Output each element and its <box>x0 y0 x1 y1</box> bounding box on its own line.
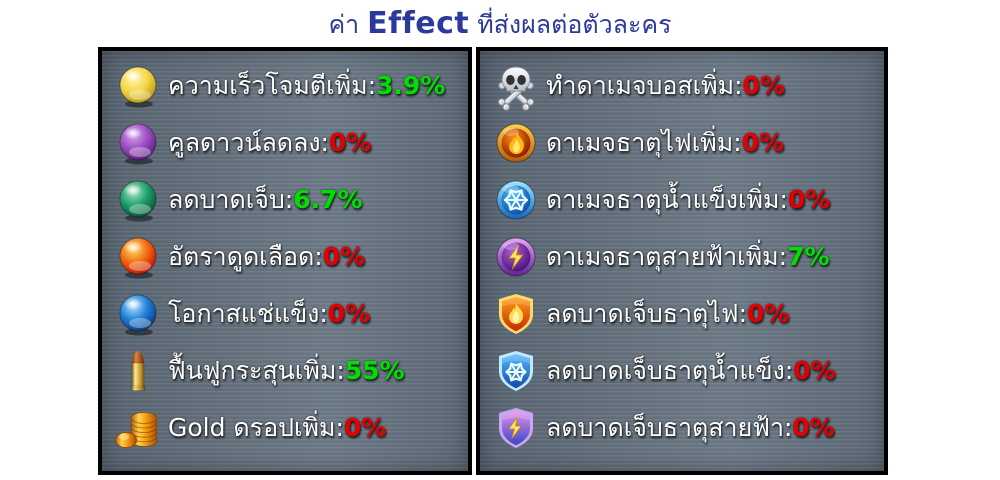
stat-label: ลดบาดเจ็บธาตุไฟ: <box>546 299 747 328</box>
stat-label: ทำดาเมจบอสเพิ่ม: <box>546 71 743 100</box>
stat-label: ฟื้นฟูกระสุนเพิ่ม: <box>168 356 345 385</box>
fire-medallion-icon <box>490 119 542 167</box>
stat-row: Gold ดรอปเพิ่ม:0% <box>102 399 468 456</box>
stat-row: ลดบาดเจ็บธาตุน้ำแข็ง:0% <box>480 342 884 399</box>
stat-row: ดาเมจธาตุไฟเพิ่ม:0% <box>480 114 884 171</box>
page-title-effect: Effect <box>367 6 469 41</box>
bullet-icon <box>112 347 164 395</box>
stat-row: ฟื้นฟูกระสุนเพิ่ม:55% <box>102 342 468 399</box>
orb-purple-icon <box>112 119 164 167</box>
stat-label: ลดบาดเจ็บ: <box>168 185 293 214</box>
stat-text: Gold ดรอปเพิ่ม:0% <box>164 408 386 448</box>
orb-orange-icon <box>112 233 164 281</box>
stat-value: 0% <box>792 413 834 442</box>
stat-label: ลดบาดเจ็บธาตุน้ำแข็ง: <box>546 356 793 385</box>
ice-medallion-icon <box>490 176 542 224</box>
stat-text: คูลดาวน์ลดลง:0% <box>164 123 371 163</box>
stat-text: ลดบาดเจ็บธาตุน้ำแข็ง:0% <box>542 351 836 391</box>
stat-label: ลดบาดเจ็บธาตุสายฟ้า: <box>546 413 792 442</box>
stat-value: 3.9% <box>376 71 445 100</box>
stat-value: 7% <box>787 242 829 271</box>
stat-label: ดาเมจธาตุน้ำแข็งเพิ่ม: <box>546 185 788 214</box>
page-title-prefix: ค่า <box>328 10 367 39</box>
stat-value: 0% <box>344 413 386 442</box>
stat-label: โอกาสแช่แข็ง: <box>168 299 328 328</box>
stat-value: 0% <box>329 128 371 157</box>
stat-row: ลดบาดเจ็บธาตุสายฟ้า:0% <box>480 399 884 456</box>
right-panel-rows: ทำดาเมจบอสเพิ่ม:0%ดาเมจธาตุไฟเพิ่ม:0%ดาเ… <box>480 51 884 456</box>
lightning-shield-icon <box>490 404 542 452</box>
stat-text: อัตราดูดเลือด:0% <box>164 237 365 277</box>
stat-text: ลดบาดเจ็บธาตุสายฟ้า:0% <box>542 408 835 448</box>
stat-label: คูลดาวน์ลดลง: <box>168 128 329 157</box>
stat-text: ความเร็วโจมตีเพิ่ม:3.9% <box>164 66 445 106</box>
stat-value: 0% <box>742 128 784 157</box>
ice-shield-icon <box>490 347 542 395</box>
stat-value: 0% <box>788 185 830 214</box>
stat-row: อัตราดูดเลือด:0% <box>102 228 468 285</box>
lightning-medallion-icon <box>490 233 542 281</box>
stat-label: ดาเมจธาตุไฟเพิ่ม: <box>546 128 742 157</box>
orb-yellow-icon <box>112 62 164 110</box>
stat-label: Gold ดรอปเพิ่ม: <box>168 413 344 442</box>
stat-row: คูลดาวน์ลดลง:0% <box>102 114 468 171</box>
stat-value: 0% <box>747 299 789 328</box>
stat-value: 0% <box>743 71 785 100</box>
gold-coins-icon <box>112 404 164 452</box>
stat-row: ทำดาเมจบอสเพิ่ม:0% <box>480 57 884 114</box>
stat-text: ทำดาเมจบอสเพิ่ม:0% <box>542 66 785 106</box>
page-title-suffix: ที่ส่งผลต่อตัวละคร <box>469 10 671 39</box>
stat-label: ดาเมจธาตุสายฟ้าเพิ่ม: <box>546 242 787 271</box>
stat-row: ลดบาดเจ็บธาตุไฟ:0% <box>480 285 884 342</box>
stat-row: ลดบาดเจ็บ:6.7% <box>102 171 468 228</box>
right-panel: ทำดาเมจบอสเพิ่ม:0%ดาเมจธาตุไฟเพิ่ม:0%ดาเ… <box>476 47 888 475</box>
stat-value: 0% <box>323 242 365 271</box>
orb-blue-icon <box>112 290 164 338</box>
stat-text: โอกาสแช่แข็ง:0% <box>164 294 370 334</box>
skull-crossbones-icon <box>490 62 542 110</box>
left-panel-rows: ความเร็วโจมตีเพิ่ม:3.9%คูลดาวน์ลดลง:0%ลด… <box>102 51 468 456</box>
stat-value: 6.7% <box>293 185 362 214</box>
stat-row: ความเร็วโจมตีเพิ่ม:3.9% <box>102 57 468 114</box>
effect-board: ความเร็วโจมตีเพิ่ม:3.9%คูลดาวน์ลดลง:0%ลด… <box>98 47 896 475</box>
stat-row: ดาเมจธาตุน้ำแข็งเพิ่ม:0% <box>480 171 884 228</box>
stat-row: ดาเมจธาตุสายฟ้าเพิ่ม:7% <box>480 228 884 285</box>
stat-value: 0% <box>328 299 370 328</box>
stat-text: ลดบาดเจ็บธาตุไฟ:0% <box>542 294 789 334</box>
stat-text: ฟื้นฟูกระสุนเพิ่ม:55% <box>164 351 405 391</box>
stat-value: 0% <box>793 356 835 385</box>
stat-text: ดาเมจธาตุน้ำแข็งเพิ่ม:0% <box>542 180 830 220</box>
orb-green-icon <box>112 176 164 224</box>
stat-text: ดาเมจธาตุไฟเพิ่ม:0% <box>542 123 784 163</box>
page-title: ค่า Effect ที่ส่งผลต่อตัวละคร <box>0 4 1000 45</box>
fire-shield-icon <box>490 290 542 338</box>
left-panel: ความเร็วโจมตีเพิ่ม:3.9%คูลดาวน์ลดลง:0%ลด… <box>98 47 472 475</box>
stat-label: ความเร็วโจมตีเพิ่ม: <box>168 71 376 100</box>
stat-value: 55% <box>345 356 405 385</box>
stat-text: ดาเมจธาตุสายฟ้าเพิ่ม:7% <box>542 237 830 277</box>
stat-row: โอกาสแช่แข็ง:0% <box>102 285 468 342</box>
stat-label: อัตราดูดเลือด: <box>168 242 323 271</box>
stat-text: ลดบาดเจ็บ:6.7% <box>164 180 363 220</box>
